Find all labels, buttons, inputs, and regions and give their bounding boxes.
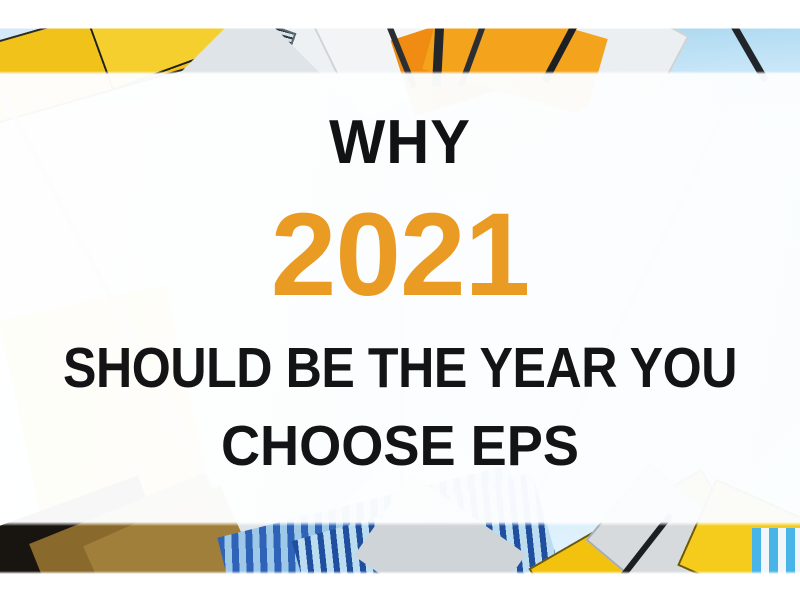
headline-line-why: WHY — [16, 112, 784, 174]
headline-line-choose-eps: CHOOSE EPS — [20, 418, 780, 475]
headline-line-should-be-the-year-you: SHOULD BE THE YEAR YOU — [48, 340, 752, 397]
title-slide: WHY 2021 SHOULD BE THE YEAR YOU CHOOSE E… — [0, 0, 800, 600]
headline-line-year: 2021 — [0, 196, 800, 314]
headline-block: WHY 2021 SHOULD BE THE YEAR YOU CHOOSE E… — [0, 0, 800, 600]
